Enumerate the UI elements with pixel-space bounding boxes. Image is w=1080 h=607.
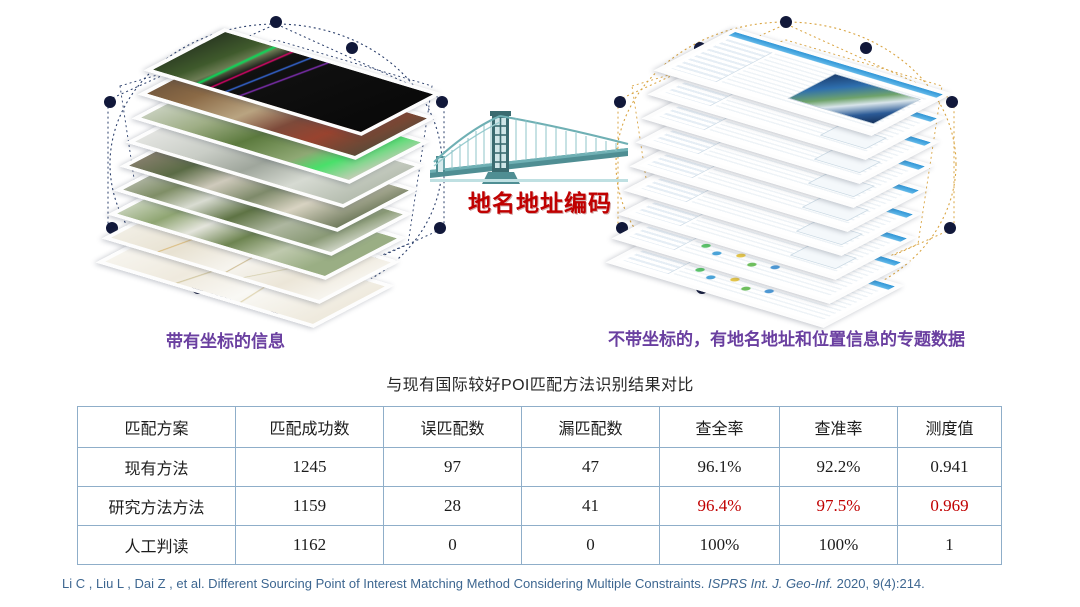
cell-missed-match: 47 <box>522 448 660 487</box>
th-missed-match: 漏匹配数 <box>522 407 660 448</box>
illustration-area: 地名地址编码 带有坐标的信息 不带坐标的，有地名地址和位置信息的专题数据 <box>0 0 1080 358</box>
cell-false-match: 0 <box>384 526 522 565</box>
table-row: 现有方法 1245 97 47 96.1% 92.2% 0.941 <box>78 448 1002 487</box>
results-table: 匹配方案 匹配成功数 误匹配数 漏匹配数 查全率 查准率 测度值 现有方法 12… <box>77 406 1002 565</box>
table-row: 研究方法方法 1159 28 41 96.4% 97.5% 0.969 <box>78 487 1002 526</box>
th-measure: 测度值 <box>898 407 1002 448</box>
table-header-row: 匹配方案 匹配成功数 误匹配数 漏匹配数 查全率 查准率 测度值 <box>78 407 1002 448</box>
cell-measure: 0.941 <box>898 448 1002 487</box>
cell-recall: 100% <box>660 526 780 565</box>
table-title: 与现有国际较好POI匹配方法识别结果对比 <box>0 371 1080 395</box>
th-false-match: 误匹配数 <box>384 407 522 448</box>
citation-prefix: Li C , Liu L , Dai Z , et al. Different … <box>62 576 708 591</box>
citation: Li C , Liu L , Dai Z , et al. Different … <box>62 576 1072 591</box>
th-precision: 查准率 <box>780 407 898 448</box>
cell-precision: 92.2% <box>780 448 898 487</box>
cell-scheme: 人工判读 <box>78 526 236 565</box>
cell-missed-match: 0 <box>522 526 660 565</box>
cell-recall: 96.4% <box>660 487 780 526</box>
document-window-stack <box>618 14 958 314</box>
cell-scheme: 现有方法 <box>78 448 236 487</box>
cell-matched: 1159 <box>236 487 384 526</box>
cell-missed-match: 41 <box>522 487 660 526</box>
suspension-bridge-icon <box>428 100 632 186</box>
caption-right: 不带坐标的，有地名地址和位置信息的专题数据 <box>608 325 965 350</box>
th-recall: 查全率 <box>660 407 780 448</box>
map-layer-stack <box>108 14 448 314</box>
th-matched: 匹配成功数 <box>236 407 384 448</box>
cell-scheme: 研究方法方法 <box>78 487 236 526</box>
citation-journal: ISPRS Int. J. Geo-Inf. <box>708 576 833 591</box>
cell-precision: 100% <box>780 526 898 565</box>
cell-precision: 97.5% <box>780 487 898 526</box>
table-row: 人工判读 1162 0 0 100% 100% 1 <box>78 526 1002 565</box>
cell-matched: 1245 <box>236 448 384 487</box>
cell-false-match: 97 <box>384 448 522 487</box>
cell-measure: 0.969 <box>898 487 1002 526</box>
cell-recall: 96.1% <box>660 448 780 487</box>
cell-matched: 1162 <box>236 526 384 565</box>
cell-false-match: 28 <box>384 487 522 526</box>
cell-measure: 1 <box>898 526 1002 565</box>
caption-left: 带有坐标的信息 <box>166 327 285 352</box>
citation-suffix: 2020, 9(4):214. <box>833 576 925 591</box>
th-scheme: 匹配方案 <box>78 407 236 448</box>
center-red-label: 地名地址编码 <box>0 184 1080 218</box>
